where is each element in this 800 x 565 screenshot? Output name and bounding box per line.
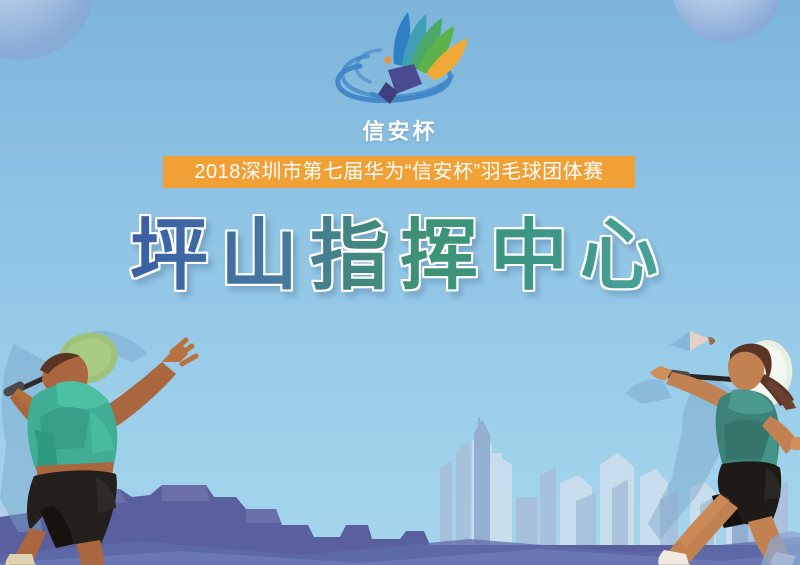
page-title: 坪山指挥中心 [0,216,800,294]
badminton-player-right [620,318,800,565]
logo-wordmark: 信安杯 [0,114,800,146]
tournament-logo: 信安杯 [0,4,800,146]
page-title-text: 坪山指挥中心 [130,216,670,294]
badminton-player-left [0,318,226,565]
poster-canvas: 信安杯 2018深圳市第七届华为“信安杯”羽毛球团体赛 坪山指挥中心 [0,0,800,565]
shuttlecock-logo-icon [316,4,484,120]
event-title-text: 2018深圳市第七届华为“信安杯”羽毛球团体赛 [194,162,603,182]
event-title-banner: 2018深圳市第七届华为“信安杯”羽毛球团体赛 [163,156,635,188]
